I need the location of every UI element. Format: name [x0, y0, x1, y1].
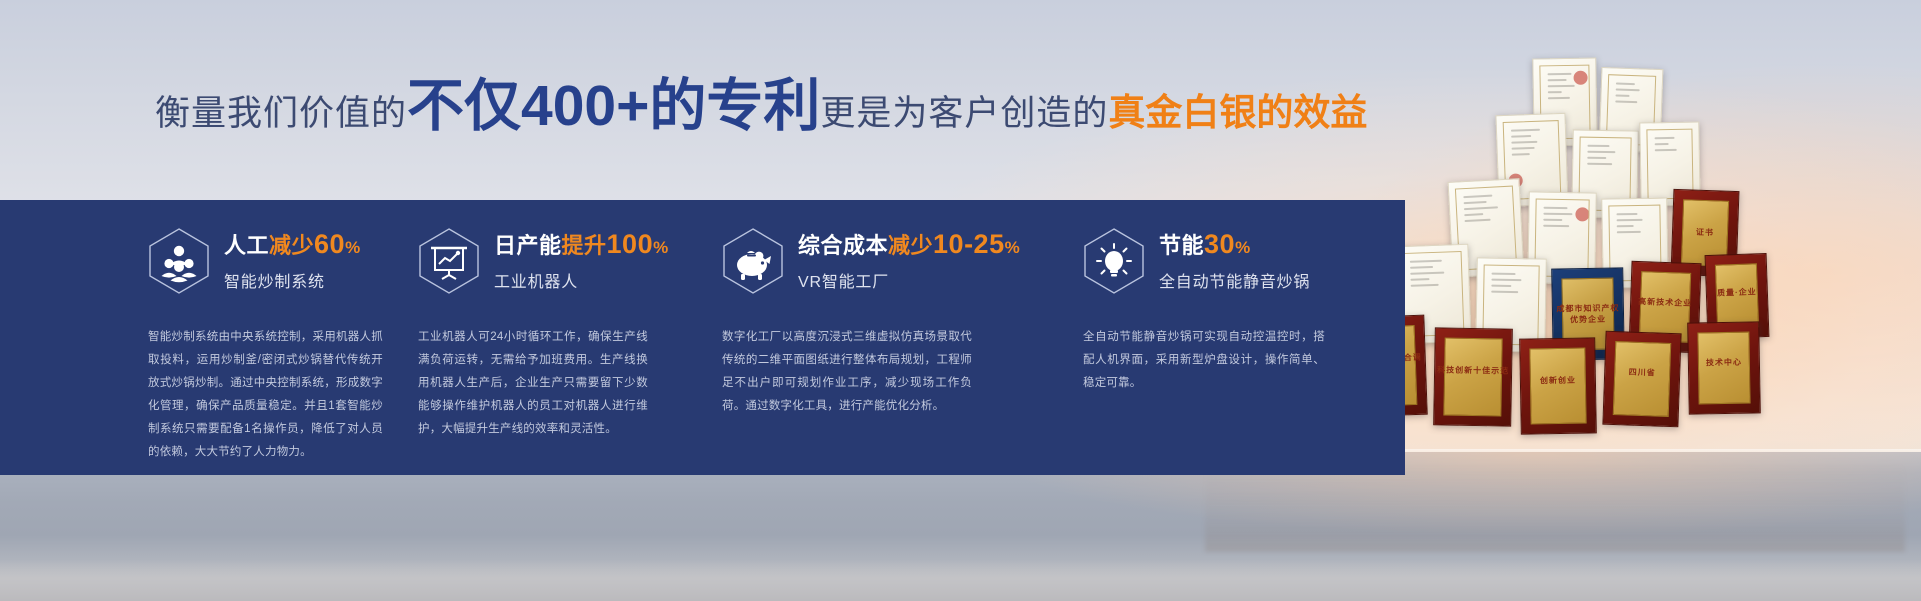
- piggy-bank-icon: [722, 227, 784, 295]
- feature-title: 综合成本减少10-25%: [798, 230, 1020, 260]
- feature-subtitle: VR智能工厂: [798, 268, 1020, 292]
- feature-body: 工业机器人可24小时循环工作，确保生产线满负荷运转，无需给予加班费用。生产线换用…: [418, 326, 648, 441]
- headline-middle: 更是为客户创造的: [820, 85, 1108, 136]
- page-title: 衡量我们价值的 不仅400+的专利 更是为客户创造的 真金白银的效益: [155, 78, 1367, 140]
- feature-subtitle: 全自动节能静音炒锅: [1159, 268, 1310, 292]
- feature-title-accent: 减少: [888, 233, 933, 258]
- feature-title-prefix: 节能: [1159, 233, 1204, 258]
- feature-column-4: 节能30% 全自动节能静音炒锅 全自动节能静音炒锅可实现自动控温控时，搭配人机界…: [1005, 224, 1365, 475]
- feature-title: 节能30%: [1159, 230, 1310, 260]
- feature-title-prefix: 人工: [224, 233, 269, 258]
- feature-column-3: 综合成本减少10-25% VR智能工厂 数字化工厂以高度沉浸式三维虚拟仿真场景取…: [660, 224, 1005, 475]
- feature-title-number: 30: [1204, 229, 1235, 259]
- feature-title-accent: 减少: [269, 233, 314, 258]
- seal-icon: [1575, 207, 1589, 221]
- lightbulb-icon: [1083, 227, 1145, 295]
- features-panel: 人工减少60% 智能炒制系统 智能炒制系统由中央系统控制，采用机器人抓取投料，运…: [0, 200, 1405, 475]
- feature-title-prefix: 综合成本: [798, 233, 888, 258]
- promotional-banner: 证书 成都市知识产权优势企业 高新技术企业 质量·企业 四川省川菜复合调味品: [0, 0, 1921, 601]
- headline-highlight: 真金白银的效益: [1108, 82, 1367, 136]
- plaque-item: 创新创业: [1519, 337, 1597, 434]
- feature-body: 数字化工厂以高度沉浸式三维虚拟仿真场景取代传统的二维平面图纸进行整体布局规划，工…: [722, 326, 972, 418]
- feature-column-1: 人工减少60% 智能炒制系统 智能炒制系统由中央系统控制，采用机器人抓取投料，运…: [0, 224, 340, 475]
- plaque-label: 科技创新十佳示范: [1435, 364, 1511, 376]
- headline-lead: 衡量我们价值的: [155, 85, 407, 136]
- seal-icon: [1573, 71, 1587, 85]
- feature-column-2: 日产能提升100% 工业机器人 工业机器人可24小时循环工作，确保生产线满负荷运…: [340, 224, 660, 475]
- plaque-item: 技术中心: [1687, 321, 1761, 414]
- feature-title: 日产能提升100%: [494, 230, 669, 260]
- plaque-item: 四川省: [1602, 331, 1681, 428]
- background-shore: [0, 560, 1921, 601]
- people-group-icon: [148, 227, 210, 295]
- plaque-label: 成都市知识产权优势企业: [1553, 302, 1623, 325]
- feature-title-unit: %: [1235, 238, 1251, 257]
- plaque-label: 高新技术企业: [1631, 296, 1699, 309]
- feature-body: 全自动节能静音炒锅可实现自动控温控时，搭配人机界面，采用新型炉盘设计，操作简单、…: [1083, 326, 1325, 395]
- pile-reflection: [1205, 462, 1905, 552]
- plaque-label: 技术中心: [1689, 356, 1759, 368]
- chart-board-icon: [418, 227, 480, 295]
- feature-title-prefix: 日产能: [494, 233, 562, 258]
- plaque-item: 科技创新十佳示范: [1433, 327, 1513, 426]
- plaque-label: 质量·企业: [1707, 286, 1767, 299]
- plaque-label: 创新创业: [1521, 374, 1595, 386]
- feature-title-accent: 提升: [562, 233, 607, 258]
- feature-subtitle: 工业机器人: [494, 268, 669, 292]
- feature-title-number: 10-25: [933, 229, 1005, 259]
- headline-emphasis: 不仅400+的专利: [407, 78, 820, 135]
- feature-title-number: 100: [607, 229, 654, 259]
- plaque-label: 证书: [1673, 226, 1737, 239]
